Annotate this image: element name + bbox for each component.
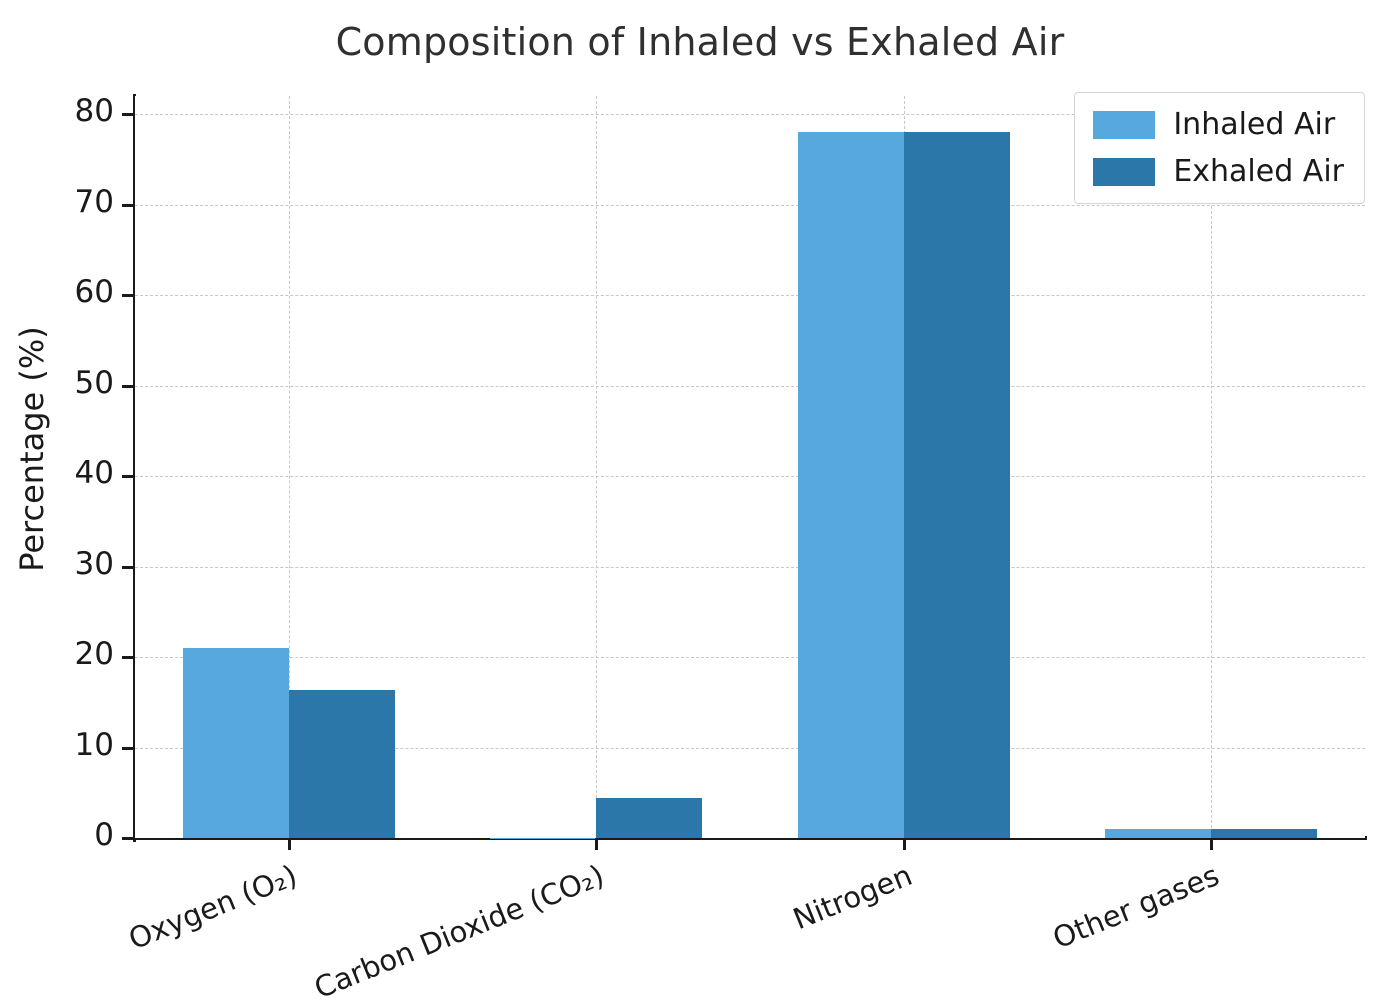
legend-swatch-inhaled <box>1093 111 1155 139</box>
gridline-horizontal <box>135 476 1365 477</box>
gridline-vertical <box>596 96 597 838</box>
y-tick-mark <box>122 566 135 569</box>
y-tick-mark <box>122 204 135 207</box>
y-tick-label: 70 <box>75 184 114 220</box>
y-tick-label: 60 <box>75 274 114 310</box>
gridline-horizontal <box>135 295 1365 296</box>
chart-title: Composition of Inhaled vs Exhaled Air <box>0 20 1400 64</box>
y-tick-label: 0 <box>94 817 114 853</box>
y-tick-label: 40 <box>75 455 114 491</box>
x-tick-label: Oxygen (O₂) <box>0 858 301 1000</box>
y-tick-mark <box>122 656 135 659</box>
gridline-vertical <box>1211 96 1212 838</box>
y-tick-mark <box>122 475 135 478</box>
bar-exhaled[interactable] <box>289 690 395 838</box>
x-tick-mark <box>595 838 598 850</box>
x-tick-label: Carbon Dioxide (CO₂) <box>0 858 609 1000</box>
legend-label-exhaled: Exhaled Air <box>1173 154 1344 189</box>
y-tick-label: 30 <box>75 546 114 582</box>
bar-exhaled[interactable] <box>1211 829 1317 838</box>
legend-entry-exhaled[interactable]: Exhaled Air <box>1093 154 1344 189</box>
y-tick-mark <box>122 294 135 297</box>
x-tick-mark <box>1210 838 1213 850</box>
chart-figure: Composition of Inhaled vs Exhaled Air 01… <box>0 0 1400 1000</box>
x-tick-mark <box>288 838 291 850</box>
bar-inhaled[interactable] <box>1105 829 1211 838</box>
legend-swatch-exhaled <box>1093 158 1155 186</box>
bar-inhaled[interactable] <box>183 648 289 838</box>
bar-exhaled[interactable] <box>904 132 1010 838</box>
y-tick-label: 20 <box>75 636 114 672</box>
bar-exhaled[interactable] <box>596 798 702 838</box>
y-tick-mark <box>122 385 135 388</box>
y-tick-label: 50 <box>75 365 114 401</box>
gridline-horizontal <box>135 657 1365 658</box>
y-tick-label: 10 <box>75 727 114 763</box>
chart-legend: Inhaled Air Exhaled Air <box>1074 92 1365 204</box>
y-tick-mark <box>122 113 135 116</box>
legend-label-inhaled: Inhaled Air <box>1173 107 1335 142</box>
bar-inhaled[interactable] <box>798 132 904 838</box>
y-tick-mark <box>122 837 135 840</box>
gridline-horizontal <box>135 386 1365 387</box>
gridline-horizontal <box>135 567 1365 568</box>
y-tick-label: 80 <box>75 93 114 129</box>
gridline-horizontal <box>135 205 1365 206</box>
y-tick-mark <box>122 747 135 750</box>
x-tick-mark <box>903 838 906 850</box>
y-axis-label: Percentage (%) <box>13 189 51 709</box>
plot-area <box>135 96 1365 838</box>
legend-entry-inhaled[interactable]: Inhaled Air <box>1093 107 1344 142</box>
